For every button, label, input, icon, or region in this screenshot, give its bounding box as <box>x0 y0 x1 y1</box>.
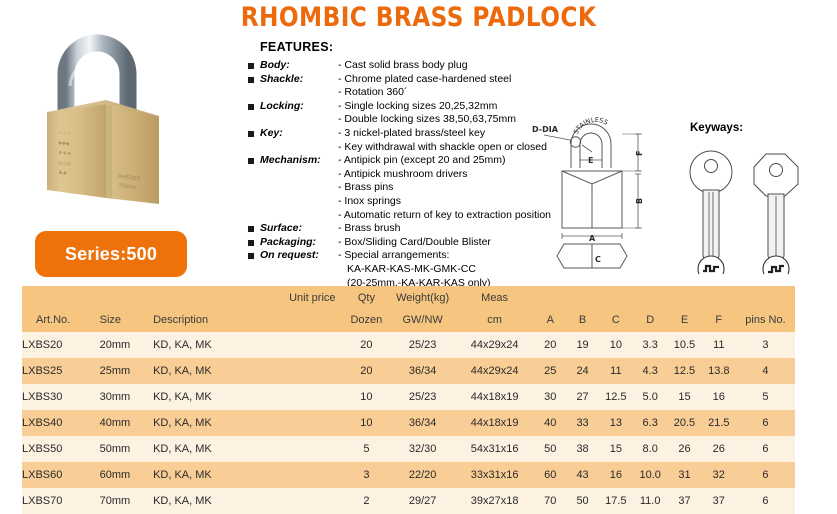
th-weight-bottom: GW/NW <box>402 314 442 326</box>
cell-qty: 10 <box>343 410 391 436</box>
cell-unit-price <box>282 410 343 436</box>
label-b: B <box>635 198 644 204</box>
cell-b: 19 <box>566 332 598 358</box>
cell-a: 40 <box>534 410 566 436</box>
cell-meas: 44x29x24 <box>455 332 534 358</box>
th-spec-c: C <box>599 286 633 332</box>
cell-description: KD, KA, MK <box>153 410 282 436</box>
cell-e: 31 <box>667 462 701 488</box>
keyways-section: Keyways: <box>668 122 836 278</box>
specifications-table: Art.No. Size Description Unit price Qty … <box>22 286 795 514</box>
label-f: F <box>635 151 644 156</box>
feature-row: - Brass pins <box>248 181 540 195</box>
cell-d: 8.0 <box>633 436 667 462</box>
cell-unit-price <box>282 436 343 462</box>
th-weight-top: Weight(kg) <box>390 292 455 305</box>
cell-c: 12.5 <box>599 384 633 410</box>
cell-pins: 6 <box>736 462 795 488</box>
cell-f: 37 <box>702 488 736 514</box>
table-header-row: Art.No. Size Description Unit price Qty … <box>22 286 795 332</box>
feature-label: Shackle: <box>260 73 338 87</box>
cell-a: 60 <box>534 462 566 488</box>
cell-a: 25 <box>534 358 566 384</box>
cell-e: 12.5 <box>667 358 701 384</box>
bullet-icon <box>248 240 254 246</box>
cell-b: 33 <box>566 410 598 436</box>
cell-b: 50 <box>566 488 598 514</box>
cell-weight: 29/27 <box>390 488 455 514</box>
padlock-product-photo: ☆☆☆ ◆◆◆ ❖❖❖ ◎◎◎ ♣♣ RHS503 70mm <box>22 26 212 222</box>
table-row: LXBS2525mmKD, KA, MK2036/3444x29x2425241… <box>22 358 795 384</box>
th-meas-top: Meas <box>455 292 534 305</box>
feature-row: - Antipick mushroom drivers <box>248 168 540 182</box>
feature-row: Locking:- Single locking sizes 20,25,32m… <box>248 100 540 114</box>
feature-value: - Chrome plated case-hardened steel <box>338 73 511 87</box>
feature-row: - Double locking sizes 38,50,63,75mm <box>248 113 540 127</box>
th-meas-bottom: cm <box>487 314 502 326</box>
feature-label: Surface: <box>260 222 338 236</box>
feature-row: - Automatic return of key to extraction … <box>248 209 540 223</box>
feature-label: Body: <box>260 59 338 73</box>
table-row: LXBS6060mmKD, KA, MK322/2033x31x16604316… <box>22 462 795 488</box>
cell-f: 11 <box>702 332 736 358</box>
bullet-spacer <box>248 199 254 205</box>
table-body: LXBS2020mmKD, KA, MK2025/2344x29x2420191… <box>22 332 795 514</box>
cell-pins: 3 <box>736 332 795 358</box>
cell-pins: 4 <box>736 358 795 384</box>
feature-label: Key: <box>260 127 338 141</box>
keyways-title: Keyways: <box>690 122 836 134</box>
table-row: LXBS4040mmKD, KA, MK1036/3444x18x1940331… <box>22 410 795 436</box>
label-e: E <box>588 156 593 165</box>
bullet-icon <box>248 77 254 83</box>
cell-d: 3.3 <box>633 332 667 358</box>
feature-value: - Rotation 360´ <box>338 86 407 100</box>
cell-art-no: LXBS50 <box>22 436 100 462</box>
bullet-spacer <box>248 172 254 178</box>
cell-unit-price <box>282 488 343 514</box>
cell-e: 37 <box>667 488 701 514</box>
cell-size: 70mm <box>100 488 153 514</box>
cell-description: KD, KA, MK <box>153 488 282 514</box>
th-qty-top: Qty <box>343 292 391 305</box>
cell-size: 60mm <box>100 462 153 488</box>
feature-label: Mechanism: <box>260 154 338 168</box>
feature-row: Shackle:- Chrome plated case-hardened st… <box>248 73 540 87</box>
cell-qty: 10 <box>343 384 391 410</box>
th-meas: Meas cm <box>455 286 534 332</box>
bullet-icon <box>248 63 254 69</box>
th-description: Description <box>153 286 282 332</box>
cell-qty: 20 <box>343 358 391 384</box>
cell-d: 11.0 <box>633 488 667 514</box>
cell-meas: 44x29x24 <box>455 358 534 384</box>
svg-text:◆◆◆: ◆◆◆ <box>58 140 70 147</box>
cell-e: 10.5 <box>667 332 701 358</box>
cell-f: 16 <box>702 384 736 410</box>
feature-value: - Cast solid brass body plug <box>338 59 468 73</box>
table-row: LXBS7070mmKD, KA, MK229/2739x27x18705017… <box>22 488 795 514</box>
feature-row: KA-KAR-KAS-MK-GMK-CC <box>248 263 540 277</box>
cell-size: 30mm <box>100 384 153 410</box>
cell-a: 70 <box>534 488 566 514</box>
cell-c: 10 <box>599 332 633 358</box>
cell-meas: 33x31x16 <box>455 462 534 488</box>
series-badge: Series:500 <box>35 231 187 277</box>
feature-value: - Double locking sizes 38,50,63,75mm <box>338 113 516 127</box>
cell-b: 24 <box>566 358 598 384</box>
bullet-icon <box>248 131 254 137</box>
features-section: FEATURES: Body:- Cast solid brass body p… <box>248 40 540 290</box>
cell-a: 30 <box>534 384 566 410</box>
technical-drawing: D-DIA E A C F B STAINLESS <box>530 116 662 278</box>
feature-row: Mechanism:- Antipick pin (except 20 and … <box>248 154 540 168</box>
th-art-no: Art.No. <box>22 286 100 332</box>
cell-size: 20mm <box>100 332 153 358</box>
th-spec-b: B <box>566 286 598 332</box>
table-row: LXBS2020mmKD, KA, MK2025/2344x29x2420191… <box>22 332 795 358</box>
cell-size: 25mm <box>100 358 153 384</box>
feature-label: On request: <box>260 249 338 263</box>
cell-weight: 36/34 <box>390 358 455 384</box>
cell-art-no: LXBS30 <box>22 384 100 410</box>
th-spec-e: E <box>667 286 701 332</box>
cell-description: KD, KA, MK <box>153 358 282 384</box>
bullet-spacer <box>248 117 254 123</box>
feature-value: - Brass brush <box>338 222 400 236</box>
cell-weight: 36/34 <box>390 410 455 436</box>
th-qty-bottom: Dozen <box>350 314 382 326</box>
cell-c: 13 <box>599 410 633 436</box>
feature-row: Surface:- Brass brush <box>248 222 540 236</box>
cell-weight: 22/20 <box>390 462 455 488</box>
feature-row: - Key withdrawal with shackle open or cl… <box>248 141 540 155</box>
cell-description: KD, KA, MK <box>153 462 282 488</box>
cell-art-no: LXBS70 <box>22 488 100 514</box>
feature-row: Body:- Cast solid brass body plug <box>248 59 540 73</box>
cell-meas: 54x31x16 <box>455 436 534 462</box>
cell-c: 11 <box>599 358 633 384</box>
cell-unit-price <box>282 462 343 488</box>
cell-b: 43 <box>566 462 598 488</box>
cell-d: 6.3 <box>633 410 667 436</box>
bullet-icon <box>248 104 254 110</box>
cell-art-no: LXBS25 <box>22 358 100 384</box>
cell-description: KD, KA, MK <box>153 436 282 462</box>
feature-value: - 3 nickel-plated brass/steel key <box>338 127 485 141</box>
cell-d: 10.0 <box>633 462 667 488</box>
feature-row: On request:- Special arrangements: <box>248 249 540 263</box>
cell-size: 50mm <box>100 436 153 462</box>
bullet-spacer <box>248 267 254 273</box>
cell-weight: 25/23 <box>390 384 455 410</box>
th-pins-no: pins No. <box>736 286 795 332</box>
feature-label: Locking: <box>260 100 338 114</box>
cell-qty: 5 <box>343 436 391 462</box>
product-catalog-page: RHOMBIC BRASS PADLOCK <box>0 0 837 470</box>
padlock-body-left <box>47 104 106 198</box>
cell-unit-price <box>282 358 343 384</box>
cell-meas: 44x18x19 <box>455 410 534 436</box>
feature-value: - Antipick pin (except 20 and 25mm) <box>338 154 506 168</box>
cell-qty: 3 <box>343 462 391 488</box>
feature-row: Key:- 3 nickel-plated brass/steel key <box>248 127 540 141</box>
feature-value: - Special arrangements: <box>338 249 449 263</box>
cell-e: 15 <box>667 384 701 410</box>
cell-a: 20 <box>534 332 566 358</box>
cell-d: 5.0 <box>633 384 667 410</box>
feature-value: KA-KAR-KAS-MK-GMK-CC <box>338 263 476 277</box>
cell-pins: 6 <box>736 488 795 514</box>
cell-d: 4.3 <box>633 358 667 384</box>
feature-row: - Inox springs <box>248 195 540 209</box>
cell-pins: 5 <box>736 384 795 410</box>
feature-row: - Rotation 360´ <box>248 86 540 100</box>
cell-f: 32 <box>702 462 736 488</box>
table-row: LXBS5050mmKD, KA, MK532/3054x31x16503815… <box>22 436 795 462</box>
th-spec-d: D <box>633 286 667 332</box>
cell-qty: 20 <box>343 332 391 358</box>
feature-value: - Automatic return of key to extraction … <box>338 209 551 223</box>
cell-unit-price <box>282 384 343 410</box>
cell-a: 50 <box>534 436 566 462</box>
feature-value: - Single locking sizes 20,25,32mm <box>338 100 497 114</box>
cell-e: 26 <box>667 436 701 462</box>
cell-c: 16 <box>599 462 633 488</box>
cell-b: 38 <box>566 436 598 462</box>
cell-weight: 32/30 <box>390 436 455 462</box>
cell-description: KD, KA, MK <box>153 384 282 410</box>
label-c: C <box>595 255 601 264</box>
th-unit-price: Unit price <box>282 286 343 332</box>
th-spec-f: F <box>702 286 736 332</box>
features-list: Body:- Cast solid brass body plugShackle… <box>248 59 540 290</box>
bullet-spacer <box>248 145 254 151</box>
cell-art-no: LXBS40 <box>22 410 100 436</box>
cell-qty: 2 <box>343 488 391 514</box>
cell-art-no: LXBS60 <box>22 462 100 488</box>
bullet-icon <box>248 253 254 259</box>
label-a: A <box>589 234 596 243</box>
table-header: Art.No. Size Description Unit price Qty … <box>22 286 795 332</box>
cell-art-no: LXBS20 <box>22 332 100 358</box>
feature-value: - Inox springs <box>338 195 401 209</box>
cell-f: 13.8 <box>702 358 736 384</box>
bullet-spacer <box>248 90 254 96</box>
cell-description: KD, KA, MK <box>153 332 282 358</box>
th-spec-a: detailed specifications A <box>534 286 566 332</box>
cell-size: 40mm <box>100 410 153 436</box>
feature-label: Packaging: <box>260 236 338 250</box>
feature-value: - Brass pins <box>338 181 393 195</box>
cell-weight: 25/23 <box>390 332 455 358</box>
svg-text:♣♣: ♣♣ <box>58 170 68 177</box>
th-size: Size <box>100 286 153 332</box>
cell-f: 26 <box>702 436 736 462</box>
features-heading: FEATURES: <box>260 40 540 54</box>
cell-f: 21.5 <box>702 410 736 436</box>
feature-row: Packaging:- Box/Sliding Card/Double Blis… <box>248 236 540 250</box>
cell-c: 17.5 <box>599 488 633 514</box>
bullet-spacer <box>248 185 254 191</box>
th-qty: Qty Dozen <box>343 286 391 332</box>
cell-c: 15 <box>599 436 633 462</box>
feature-value: - Box/Sliding Card/Double Blister <box>338 236 491 250</box>
cell-e: 20.5 <box>667 410 701 436</box>
th-pins-no-label: pins No. <box>745 314 785 326</box>
cell-meas: 39x27x18 <box>455 488 534 514</box>
th-unit-price-label: Unit price <box>282 292 343 304</box>
th-weight: Weight(kg) GW/NW <box>390 286 455 332</box>
cell-b: 27 <box>566 384 598 410</box>
cell-unit-price <box>282 332 343 358</box>
bullet-icon <box>248 158 254 164</box>
bullet-icon <box>248 226 254 232</box>
bullet-spacer <box>248 213 254 219</box>
cell-pins: 6 <box>736 410 795 436</box>
th-spec-a-label: A <box>547 314 554 326</box>
cell-pins: 6 <box>736 436 795 462</box>
table-row: LXBS3030mmKD, KA, MK1025/2344x18x1930271… <box>22 384 795 410</box>
cell-meas: 44x18x19 <box>455 384 534 410</box>
label-d-dia: D-DIA <box>532 125 559 134</box>
feature-value: - Key withdrawal with shackle open or cl… <box>338 141 547 155</box>
feature-value: - Antipick mushroom drivers <box>338 168 468 182</box>
